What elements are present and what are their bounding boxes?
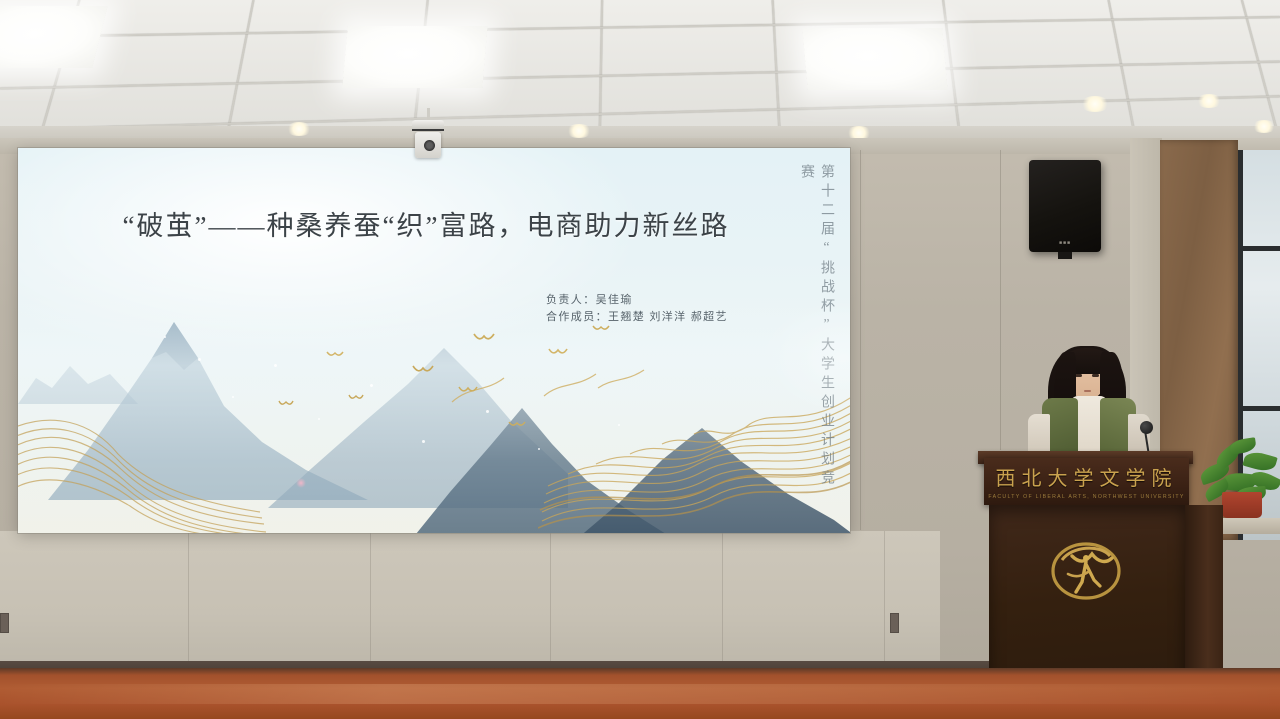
wall-seam bbox=[1000, 150, 1001, 450]
presentation-slide: “破茧”——种桑养蚕“织”富路，电商助力新丝路 负责人：吴佳瑜 合作成员：王翘楚… bbox=[18, 148, 850, 533]
projector-mount-body bbox=[412, 120, 444, 131]
panel-seam bbox=[884, 531, 885, 668]
window-mullion bbox=[1243, 406, 1280, 411]
projector-lens-icon bbox=[424, 140, 435, 151]
bird-icon bbox=[348, 388, 364, 406]
snow-speck bbox=[318, 418, 320, 420]
plant-pot bbox=[1222, 492, 1262, 518]
gold-terrace-lines-left bbox=[18, 404, 278, 533]
downlight bbox=[566, 124, 592, 138]
window-mullion bbox=[1243, 246, 1280, 251]
bird-icon bbox=[278, 394, 294, 412]
slide-credits-leader: 负责人：吴佳瑜 bbox=[546, 292, 816, 309]
floor-reflection bbox=[0, 684, 1280, 704]
speaker-bracket bbox=[1058, 252, 1072, 259]
lower-wall-panelling bbox=[0, 531, 940, 668]
ceiling-panel-light bbox=[342, 26, 487, 88]
podium-plaque: 西北大学文学院 FACULTY OF LIBERAL ARTS, NORTHWE… bbox=[984, 458, 1189, 505]
suspended-ceiling bbox=[0, 0, 1280, 142]
bird-icon bbox=[508, 416, 526, 434]
presenter-eye-left bbox=[1075, 374, 1082, 377]
podium-chinese-name: 西北大学文学院 bbox=[984, 462, 1189, 491]
snow-speck bbox=[274, 364, 277, 367]
slide-vertical-banner: 第十二届“挑战杯”大学生创业计划竞赛 bbox=[796, 164, 836, 494]
wall-outlet bbox=[890, 613, 899, 633]
slide-credits-members: 合作成员：王翘楚 刘洋洋 郝超艺 bbox=[546, 309, 816, 326]
ceiling-panel-light bbox=[802, 28, 947, 90]
plant-leaf bbox=[1242, 449, 1277, 474]
bird-icon bbox=[458, 382, 478, 400]
bird-icon bbox=[548, 344, 568, 362]
wall-outlet bbox=[0, 613, 9, 633]
ceiling-panel-light bbox=[0, 6, 108, 68]
microphone-icon bbox=[1140, 421, 1153, 434]
projection-screen[interactable]: “破茧”——种桑养蚕“织”富路，电商助力新丝路 负责人：吴佳瑜 合作成员：王翘楚… bbox=[18, 148, 850, 533]
downlight bbox=[286, 122, 312, 136]
snow-speck bbox=[422, 440, 425, 443]
panel-seam bbox=[370, 531, 371, 668]
speaker-brand-label: ■■■ bbox=[1059, 240, 1071, 246]
panel-seam bbox=[722, 531, 723, 668]
snow-speck bbox=[232, 396, 234, 398]
conference-hall-scene: “破茧”——种桑养蚕“织”富路，电商助力新丝路 负责人：吴佳瑜 合作成员：王翘楚… bbox=[0, 0, 1280, 719]
bird-icon bbox=[412, 362, 434, 380]
wall-seam bbox=[860, 150, 861, 530]
downlight bbox=[1252, 120, 1276, 133]
presenter-mouth bbox=[1084, 390, 1091, 392]
slide-title: “破茧”——种桑养蚕“织”富路，电商助力新丝路 bbox=[106, 200, 746, 252]
downlight bbox=[1080, 96, 1110, 112]
podium-english-name: FACULTY OF LIBERAL ARTS, NORTHWEST UNIVE… bbox=[984, 494, 1189, 500]
panel-seam bbox=[188, 531, 189, 668]
snow-speck bbox=[618, 424, 620, 426]
snow-speck bbox=[198, 358, 201, 361]
wall-speaker: ■■■ bbox=[1029, 160, 1101, 252]
snow-speck bbox=[538, 448, 540, 450]
snow-speck bbox=[486, 410, 489, 413]
podium-emblem-icon bbox=[1042, 534, 1130, 608]
presenter-eye-right bbox=[1092, 374, 1099, 377]
snow-speck bbox=[370, 384, 373, 387]
bird-icon bbox=[473, 330, 495, 348]
snow-speck bbox=[164, 336, 166, 338]
downlight bbox=[1196, 94, 1222, 108]
slide-credits: 负责人：吴佳瑜 合作成员：王翘楚 刘洋洋 郝超艺 bbox=[546, 292, 816, 326]
panel-seam bbox=[550, 531, 551, 668]
presenter bbox=[1020, 340, 1156, 460]
pink-glow-dot bbox=[296, 478, 306, 488]
bird-icon bbox=[326, 346, 344, 364]
gold-peak-accents bbox=[448, 362, 648, 432]
